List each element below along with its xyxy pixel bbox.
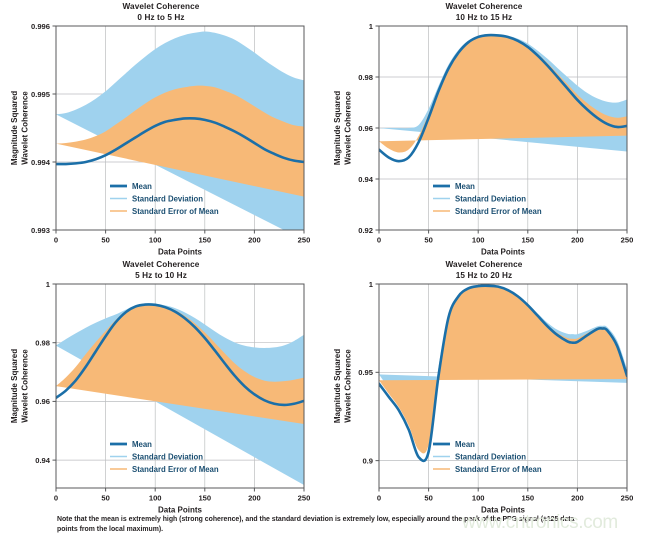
y-axis: 0.920.940.960.981Magnitude SquaredWavele…	[333, 22, 379, 235]
y-tick-label: 0.98	[35, 339, 50, 348]
y-axis: 0.9930.9940.9950.996Magnitude SquaredWav…	[10, 22, 56, 235]
legend-item-sem: Standard Error of Mean	[433, 207, 542, 216]
x-tick-label: 50	[424, 236, 432, 245]
y-tick-label: 0.94	[35, 456, 51, 465]
legend-item-sem: Standard Error of Mean	[433, 465, 542, 474]
wavelet-coherence-figure: Wavelet Coherence 0 Hz to 5 Hz 050100150…	[0, 0, 645, 539]
y-axis-title-line1: Magnitude Squared	[333, 349, 342, 423]
legend: MeanStandard DeviationStandard Error of …	[433, 440, 542, 474]
chart-svg-2: 050100150200250Data Points0.940.960.981M…	[0, 258, 322, 513]
legend-item-mean: Mean	[110, 440, 152, 449]
y-tick-label: 0.995	[31, 90, 51, 99]
x-tick-label: 200	[248, 494, 261, 503]
x-tick-label: 250	[298, 494, 311, 503]
y-tick-label: 0.95	[358, 368, 374, 377]
caption-line-1: Note that the mean is extremely high (st…	[57, 516, 390, 523]
sem-band	[379, 35, 627, 153]
y-tick-label: 0.98	[358, 73, 373, 82]
y-tick-label: 0.96	[35, 397, 50, 406]
y-tick-label: 1	[369, 22, 374, 31]
mean-legend-label: Mean	[132, 440, 152, 449]
legend-item-mean: Mean	[433, 182, 475, 191]
y-axis: 0.90.951Magnitude SquaredWavelet Coheren…	[333, 280, 379, 466]
chart-svg-1: 050100150200250Data Points0.920.940.960.…	[323, 0, 645, 255]
std-legend-label: Standard Deviation	[132, 195, 203, 204]
x-tick-label: 150	[521, 494, 534, 503]
legend-item-mean: Mean	[110, 182, 152, 191]
y-axis-title-line2: Wavelet Coherence	[344, 349, 353, 423]
x-axis-title: Data Points	[481, 248, 526, 256]
legend-item-mean: Mean	[433, 440, 475, 449]
chart-series	[379, 285, 627, 461]
mean-legend-label: Mean	[455, 182, 475, 191]
x-axis-title: Data Points	[158, 506, 203, 514]
x-tick-label: 0	[377, 494, 381, 503]
legend: MeanStandard DeviationStandard Error of …	[433, 182, 542, 216]
x-axis-title: Data Points	[158, 248, 203, 256]
x-axis: 050100150200250Data Points	[377, 488, 633, 513]
x-tick-label: 200	[571, 494, 584, 503]
watermark: www.cntronics.com	[462, 512, 618, 534]
x-tick-label: 50	[424, 494, 432, 503]
x-tick-label: 200	[248, 236, 261, 245]
y-axis: 0.940.960.981Magnitude SquaredWavelet Co…	[10, 280, 56, 465]
x-axis: 050100150200250Data Points	[377, 230, 633, 255]
chart-panel-15-20hz: Wavelet Coherence 15 Hz to 20 Hz 0501001…	[323, 258, 645, 513]
chart-svg-0: 050100150200250Data Points0.9930.9940.99…	[0, 0, 322, 255]
sem-legend-label: Standard Error of Mean	[132, 465, 219, 474]
sem-legend-label: Standard Error of Mean	[455, 207, 542, 216]
x-tick-label: 0	[54, 494, 58, 503]
y-tick-label: 0.96	[358, 124, 373, 133]
y-axis-title-line2: Wavelet Coherence	[21, 349, 30, 423]
y-tick-label: 1	[369, 280, 374, 289]
x-axis: 050100150200250Data Points	[54, 230, 310, 255]
x-tick-label: 150	[198, 236, 211, 245]
y-tick-label: 1	[46, 280, 51, 289]
legend-item-std-deviation: Standard Deviation	[433, 453, 526, 462]
x-tick-label: 250	[621, 494, 634, 503]
y-tick-label: 0.994	[31, 158, 51, 167]
x-tick-label: 100	[149, 236, 162, 245]
legend-item-std-deviation: Standard Deviation	[110, 195, 203, 204]
legend-item-std-deviation: Standard Deviation	[433, 195, 526, 204]
x-tick-label: 100	[149, 494, 162, 503]
std-legend-label: Standard Deviation	[455, 195, 526, 204]
chart-svg-3: 050100150200250Data Points0.90.951Magnit…	[323, 258, 645, 513]
y-tick-label: 0.94	[358, 175, 374, 184]
mean-legend-label: Mean	[455, 440, 475, 449]
sem-band	[379, 286, 627, 454]
x-tick-label: 150	[521, 236, 534, 245]
x-axis: 050100150200250Data Points	[54, 488, 310, 513]
y-axis-title-line1: Magnitude Squared	[10, 349, 19, 423]
legend-item-sem: Standard Error of Mean	[110, 465, 219, 474]
sem-legend-label: Standard Error of Mean	[455, 465, 542, 474]
x-tick-label: 100	[472, 236, 485, 245]
mean-legend-label: Mean	[132, 182, 152, 191]
x-tick-label: 0	[54, 236, 58, 245]
legend-item-sem: Standard Error of Mean	[110, 207, 219, 216]
legend: MeanStandard DeviationStandard Error of …	[110, 440, 219, 474]
std-legend-label: Standard Deviation	[455, 453, 526, 462]
x-tick-label: 100	[472, 494, 485, 503]
std-legend-label: Standard Deviation	[132, 453, 203, 462]
sem-legend-label: Standard Error of Mean	[132, 207, 219, 216]
chart-panel-0-5hz: Wavelet Coherence 0 Hz to 5 Hz 050100150…	[0, 0, 322, 255]
x-tick-label: 250	[298, 236, 311, 245]
x-tick-label: 250	[621, 236, 634, 245]
chart-panel-5-10hz: Wavelet Coherence 5 Hz to 10 Hz 05010015…	[0, 258, 322, 513]
y-axis-title-line2: Wavelet Coherence	[344, 91, 353, 165]
chart-panel-10-15hz: Wavelet Coherence 10 Hz to 15 Hz 0501001…	[323, 0, 645, 255]
y-tick-label: 0.9	[362, 456, 373, 465]
y-tick-label: 0.996	[31, 22, 50, 31]
x-tick-label: 0	[377, 236, 381, 245]
y-tick-label: 0.993	[31, 226, 50, 235]
y-axis-title-line2: Wavelet Coherence	[21, 91, 30, 165]
y-tick-label: 0.92	[358, 226, 373, 235]
x-tick-label: 150	[198, 494, 211, 503]
chart-series	[379, 34, 627, 161]
x-tick-label: 50	[101, 494, 109, 503]
x-tick-label: 200	[571, 236, 584, 245]
x-tick-label: 50	[101, 236, 109, 245]
y-axis-title-line1: Magnitude Squared	[333, 91, 342, 165]
y-axis-title-line1: Magnitude Squared	[10, 91, 19, 165]
